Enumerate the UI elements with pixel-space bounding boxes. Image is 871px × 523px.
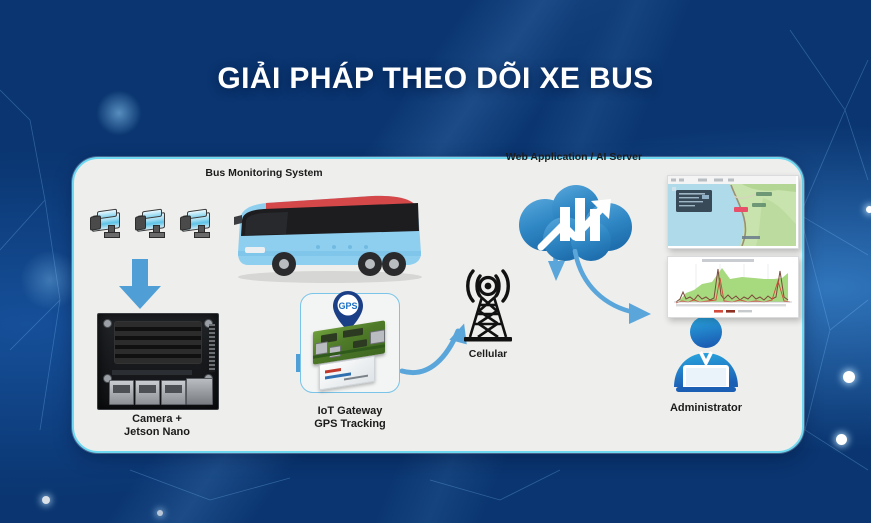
node-label-administrator: Administrator bbox=[636, 402, 776, 415]
bg-node-dot bbox=[157, 510, 163, 516]
bg-glow bbox=[96, 90, 142, 136]
page-title: GIẢI PHÁP THEO DÕI XE BUS bbox=[0, 62, 871, 96]
jetson-nano-board-icon bbox=[97, 313, 219, 410]
cctv-camera-icon bbox=[90, 207, 124, 237]
arrow-down-cameras-to-jetson bbox=[116, 259, 164, 309]
arrow-cloud-to-administrator bbox=[571, 249, 671, 329]
section-label-bus-monitoring: Bus Monitoring System bbox=[164, 167, 364, 180]
bg-node-dot bbox=[866, 206, 871, 213]
bg-node-dot bbox=[836, 434, 847, 445]
iot-gateway-box: GPS bbox=[300, 293, 400, 393]
slide-root: GIẢI PHÁP THEO DÕI XE BUS Bus Monitoring… bbox=[0, 0, 871, 523]
administrator-icon bbox=[666, 315, 746, 393]
node-label-cellular: Cellular bbox=[452, 348, 524, 361]
bg-node-dot bbox=[843, 371, 855, 383]
node-label-edge-device: Camera + Jetson Nano bbox=[87, 413, 227, 440]
cctv-camera-icon bbox=[135, 207, 169, 237]
diagram-panel: Bus Monitoring System Web Application / … bbox=[72, 157, 804, 453]
chart-screenshot-icon bbox=[667, 256, 799, 318]
bg-glow bbox=[20, 250, 80, 310]
gps-badge-text: GPS bbox=[338, 301, 357, 311]
bg-node-dot bbox=[42, 496, 50, 504]
map-screenshot-icon bbox=[667, 175, 799, 249]
section-label-web-application: Web Application / AI Server bbox=[454, 151, 694, 164]
cctv-camera-icon bbox=[180, 207, 214, 237]
node-label-iot-gateway: IoT Gateway GPS Tracking bbox=[287, 405, 413, 432]
bus-image bbox=[222, 191, 427, 286]
